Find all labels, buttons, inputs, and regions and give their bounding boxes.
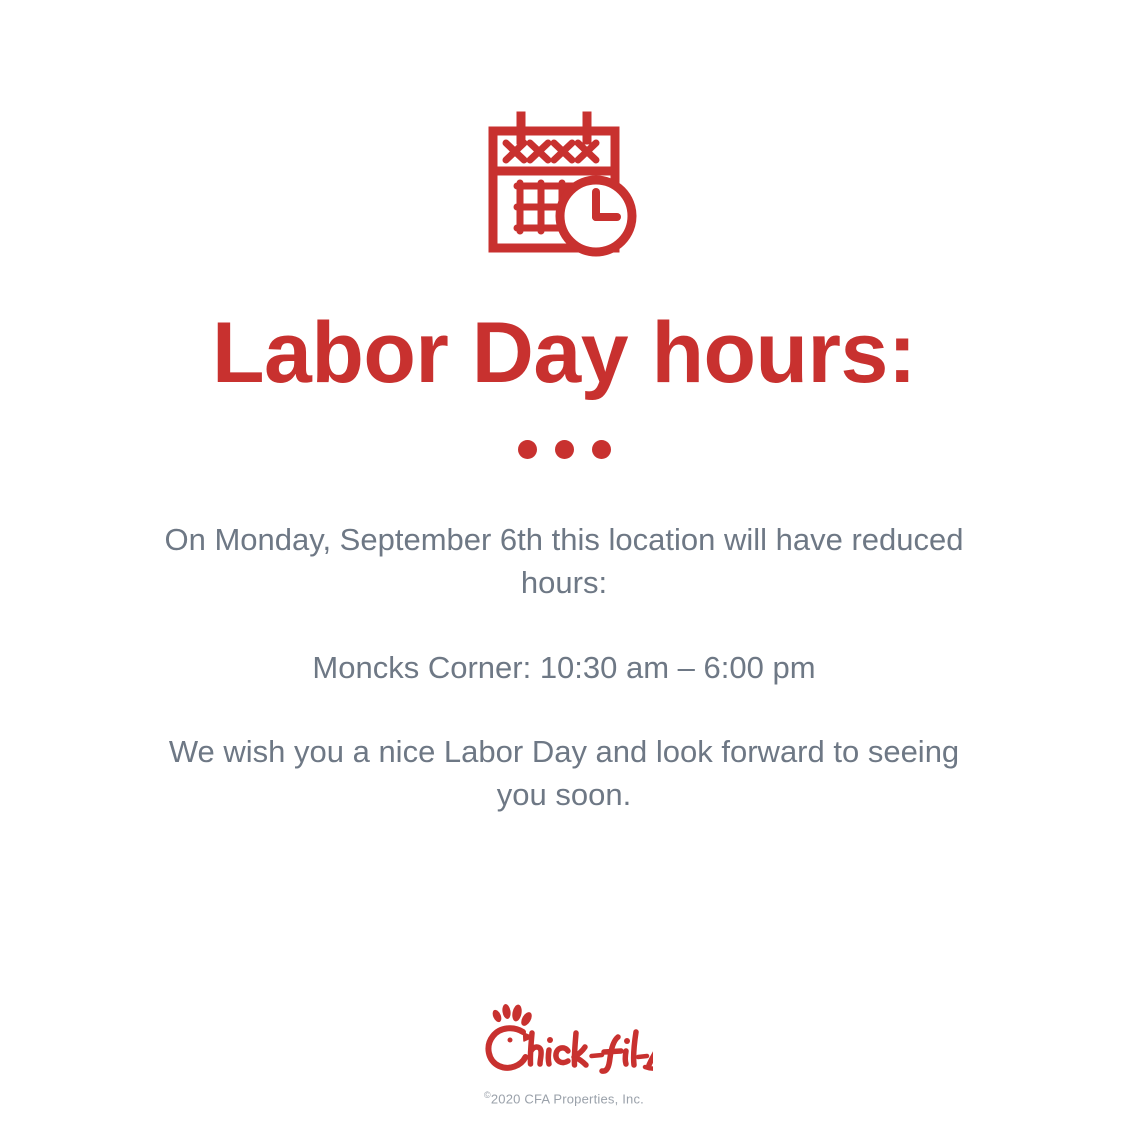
dot-divider	[518, 440, 611, 459]
body-paragraph-intro: On Monday, September 6th this location w…	[164, 519, 964, 605]
chick-fil-a-logo	[475, 1002, 653, 1074]
copyright-text: 2020 CFA Properties, Inc.	[491, 1091, 644, 1106]
body-paragraph-hours: Moncks Corner: 10:30 am – 6:00 pm	[164, 647, 964, 690]
footer: ©2020 CFA Properties, Inc.	[0, 1002, 1128, 1106]
copyright-symbol: ©	[484, 1090, 491, 1100]
page-title: Labor Day hours:	[212, 310, 916, 396]
divider-dot	[592, 440, 611, 459]
body-paragraph-closing: We wish you a nice Labor Day and look fo…	[164, 731, 964, 817]
copyright-notice: ©2020 CFA Properties, Inc.	[484, 1090, 644, 1106]
announcement-poster: Labor Day hours: On Monday, September 6t…	[0, 0, 1128, 1128]
announcement-body: On Monday, September 6th this location w…	[164, 519, 964, 817]
divider-dot	[518, 440, 537, 459]
divider-dot	[555, 440, 574, 459]
calendar-clock-icon	[484, 104, 644, 264]
